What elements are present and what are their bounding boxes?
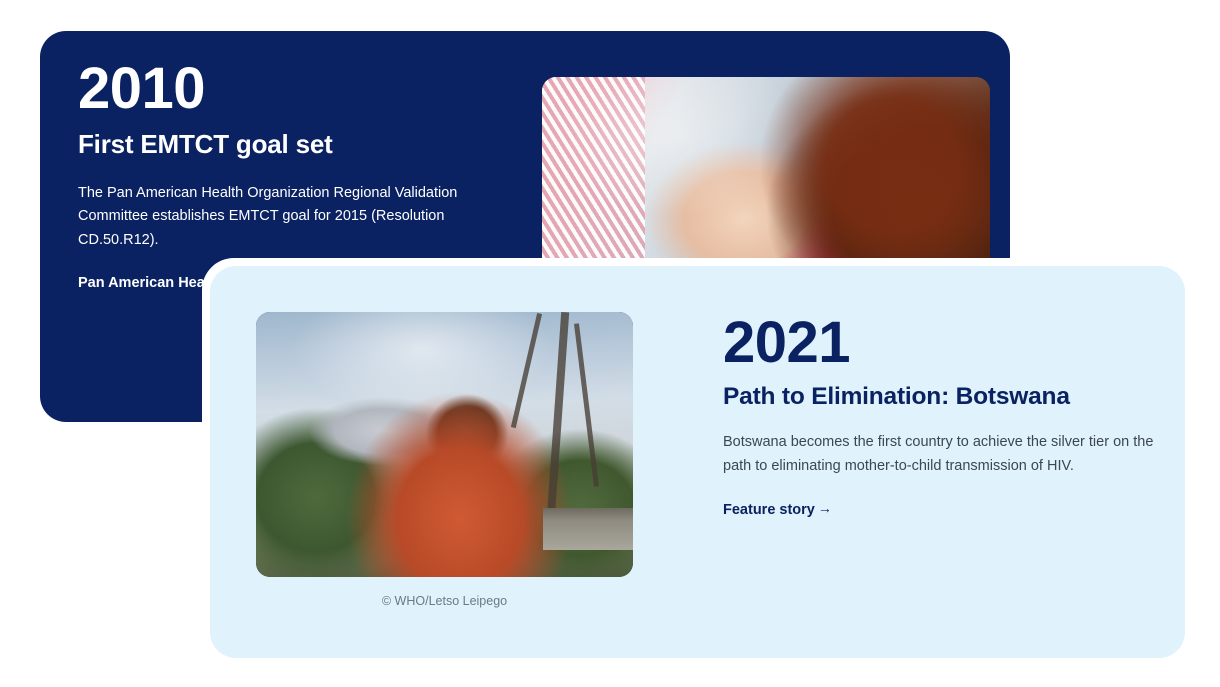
card-2021-headline: Path to Elimination: Botswana: [723, 383, 1155, 411]
card-2021-photo-credit: © WHO/Letso Leipego: [256, 593, 633, 609]
card-2021-feature-story-link[interactable]: Feature story→: [723, 500, 832, 518]
timeline-card-2021[interactable]: © WHO/Letso Leipego 2021 Path to Elimina…: [210, 266, 1185, 658]
card-2021-text-block: 2021 Path to Elimination: Botswana Botsw…: [723, 314, 1155, 519]
card-2010-year: 2010: [78, 60, 518, 118]
card-2021-year: 2021: [723, 314, 1155, 372]
building-shape: [543, 508, 633, 550]
timeline-card-2021-shell: © WHO/Letso Leipego 2021 Path to Elimina…: [202, 258, 1193, 666]
arrow-right-icon: →: [815, 500, 832, 516]
card-2021-body: Botswana becomes the first country to ac…: [723, 431, 1155, 478]
card-2021-photo: [256, 312, 633, 577]
card-2010-body: The Pan American Health Organization Reg…: [78, 182, 518, 252]
card-2010-headline: First EMTCT goal set: [78, 130, 518, 160]
timeline-card-stage: 2010 First EMTCT goal set The Pan Americ…: [0, 0, 1220, 687]
card-2021-feature-story-label: Feature story: [723, 502, 815, 518]
mother-and-child-photo-artwork: [256, 312, 633, 577]
